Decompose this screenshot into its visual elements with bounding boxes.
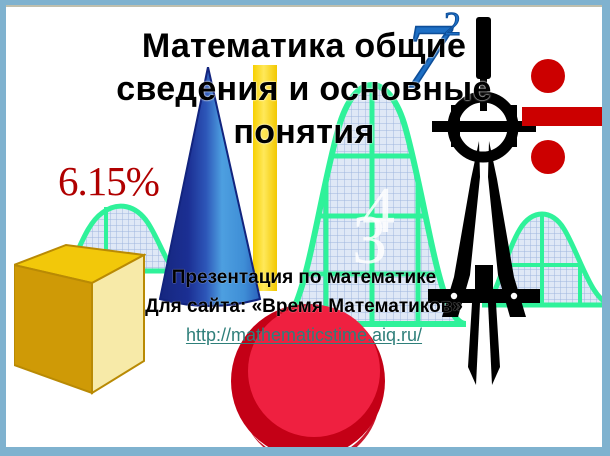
slide-title: Математика общие сведения и основные пон… [6, 25, 602, 154]
slide-canvas: 4 3 [6, 5, 602, 447]
slide-subtitle: Презентация по математике Для сайта: «Вр… [6, 263, 602, 350]
title-line-1: Математика общие [6, 25, 602, 68]
site-url-link[interactable]: http://mathematicstime.aiq.ru/ [186, 321, 422, 350]
subtitle-line-1: Презентация по математике [6, 263, 602, 292]
title-line-2: сведения и основные [6, 68, 602, 111]
title-line-3: понятия [6, 111, 602, 154]
subtitle-line-2: Для сайта: «Время Математиков» [6, 292, 602, 321]
presentation-slide: 4 3 [0, 0, 610, 456]
subtitle-url-line: http://mathematicstime.aiq.ru/ [6, 321, 602, 350]
percent-label: 6.15% [58, 157, 159, 205]
